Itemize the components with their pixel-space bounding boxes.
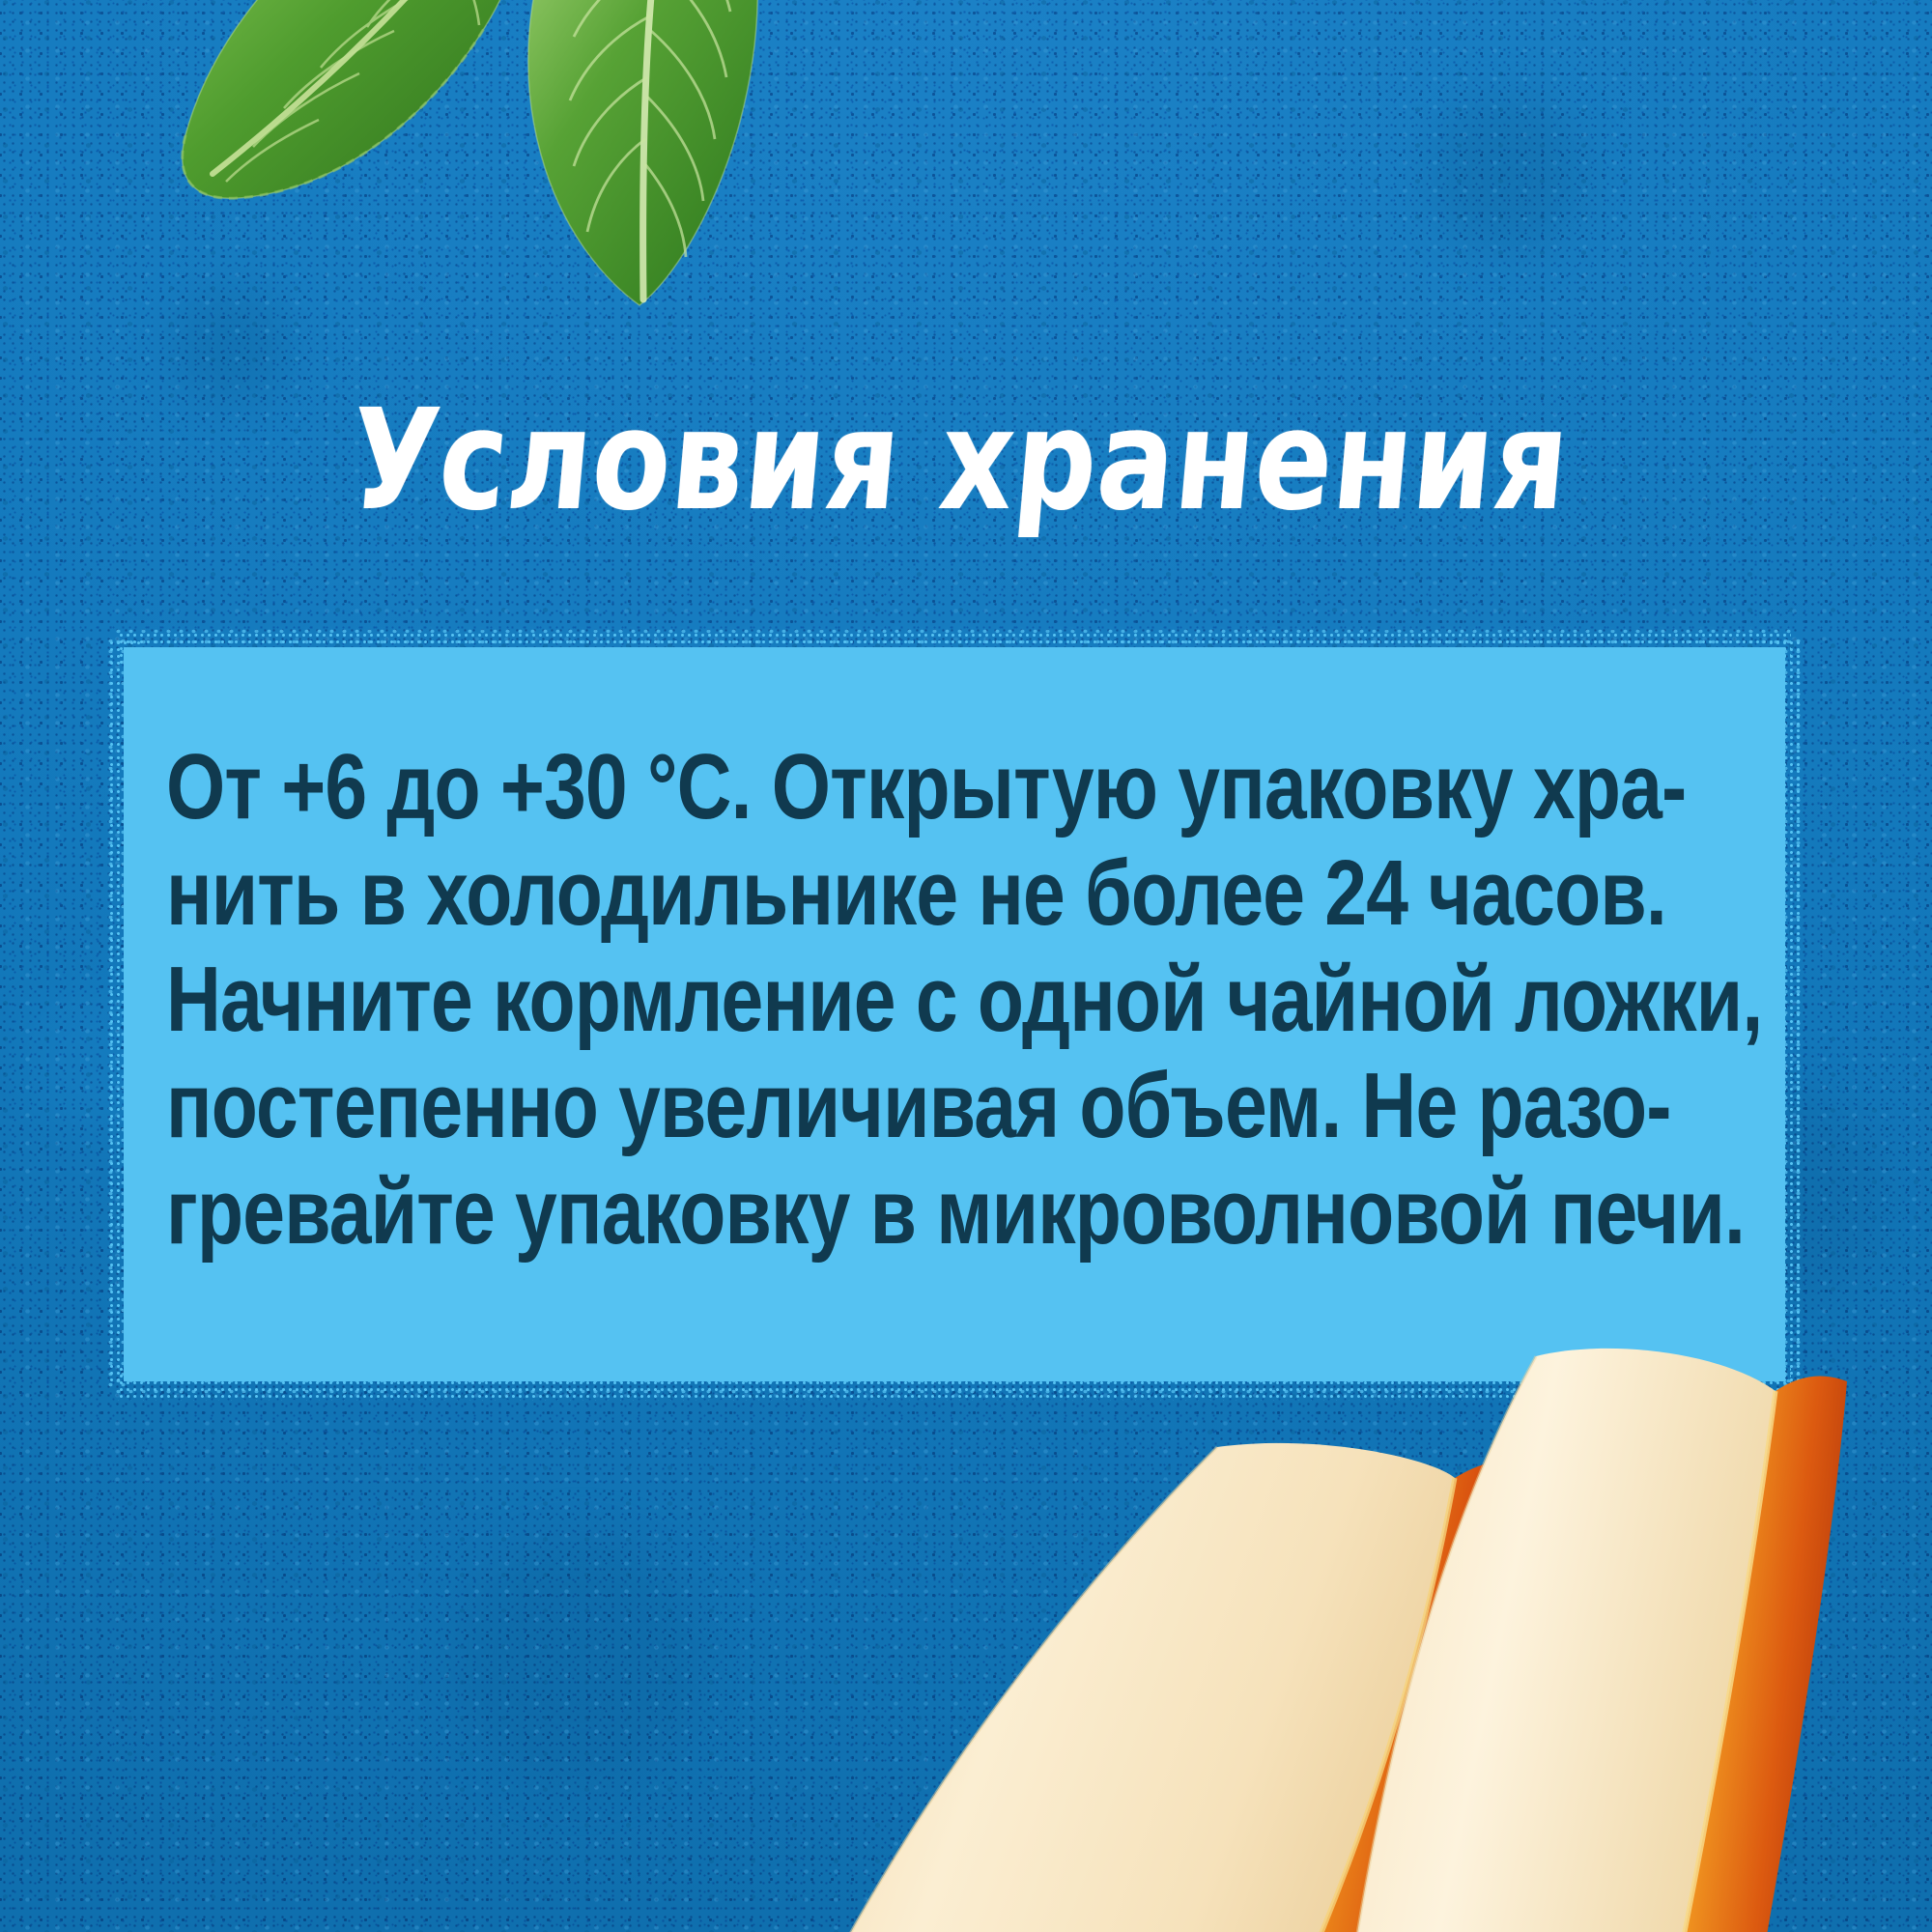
product-label-panel: Условия хранения От +6 до +30 °C. Открыт… — [0, 0, 1932, 1932]
storage-instructions-text: От +6 до +30 °C. Открытую упаковку хра- … — [166, 734, 1750, 1265]
page-title: Условия хранения — [0, 390, 1932, 529]
storage-line-5: гревайте упаковку в микроволновой печи. — [166, 1159, 1465, 1265]
storage-line-3: Начните кормление с одной чайной ложки, — [166, 947, 1465, 1053]
storage-line-1: От +6 до +30 °C. Открытую упаковку хра- — [166, 734, 1465, 840]
storage-line-4: постепенно увеличивая объем. Не разо- — [166, 1053, 1465, 1159]
storage-line-2: нить в холодильнике не более 24 часов. — [166, 840, 1465, 947]
